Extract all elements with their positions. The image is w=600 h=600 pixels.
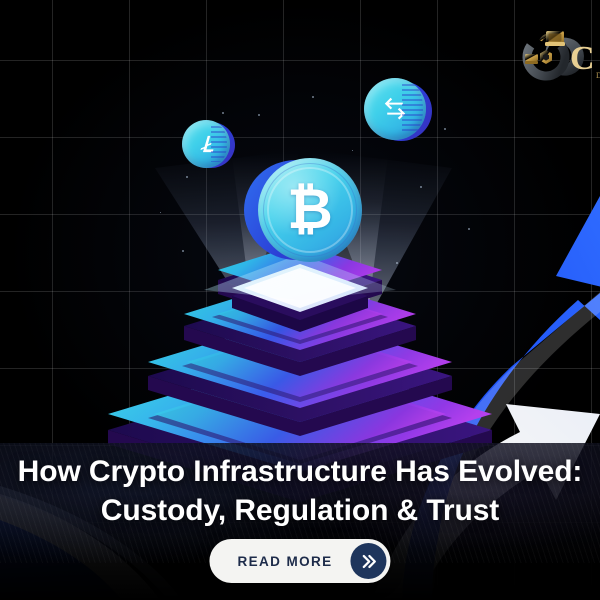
page-title: How Crypto Infrastructure Has Evolved: C… <box>0 452 600 530</box>
read-more-button[interactable]: READ MORE <box>209 539 390 583</box>
bitcoin-icon: ₿ <box>287 182 333 238</box>
brand-logo[interactable]: C D <box>512 26 600 88</box>
crypto-article-banner: ₿ C <box>0 0 600 600</box>
swap-coin <box>364 78 426 140</box>
logo-letter: C <box>570 40 595 77</box>
litecoin-coin <box>182 120 230 168</box>
read-more-label: READ MORE <box>237 554 332 569</box>
coin-rim-dots <box>402 84 423 134</box>
coin-face <box>182 120 230 168</box>
read-more-icon-circle[interactable] <box>351 543 387 579</box>
title-line-2: Custody, Regulation & Trust <box>4 491 596 530</box>
title-line-1: How Crypto Infrastructure Has Evolved: <box>4 452 596 491</box>
double-chevron-right-icon <box>359 552 378 571</box>
svg-text:D: D <box>596 71 600 80</box>
coin-face <box>364 78 426 140</box>
coin-face: ₿ <box>258 158 362 262</box>
coin-rim-dots <box>211 126 227 162</box>
bitcoin-coin: ₿ <box>258 158 362 262</box>
